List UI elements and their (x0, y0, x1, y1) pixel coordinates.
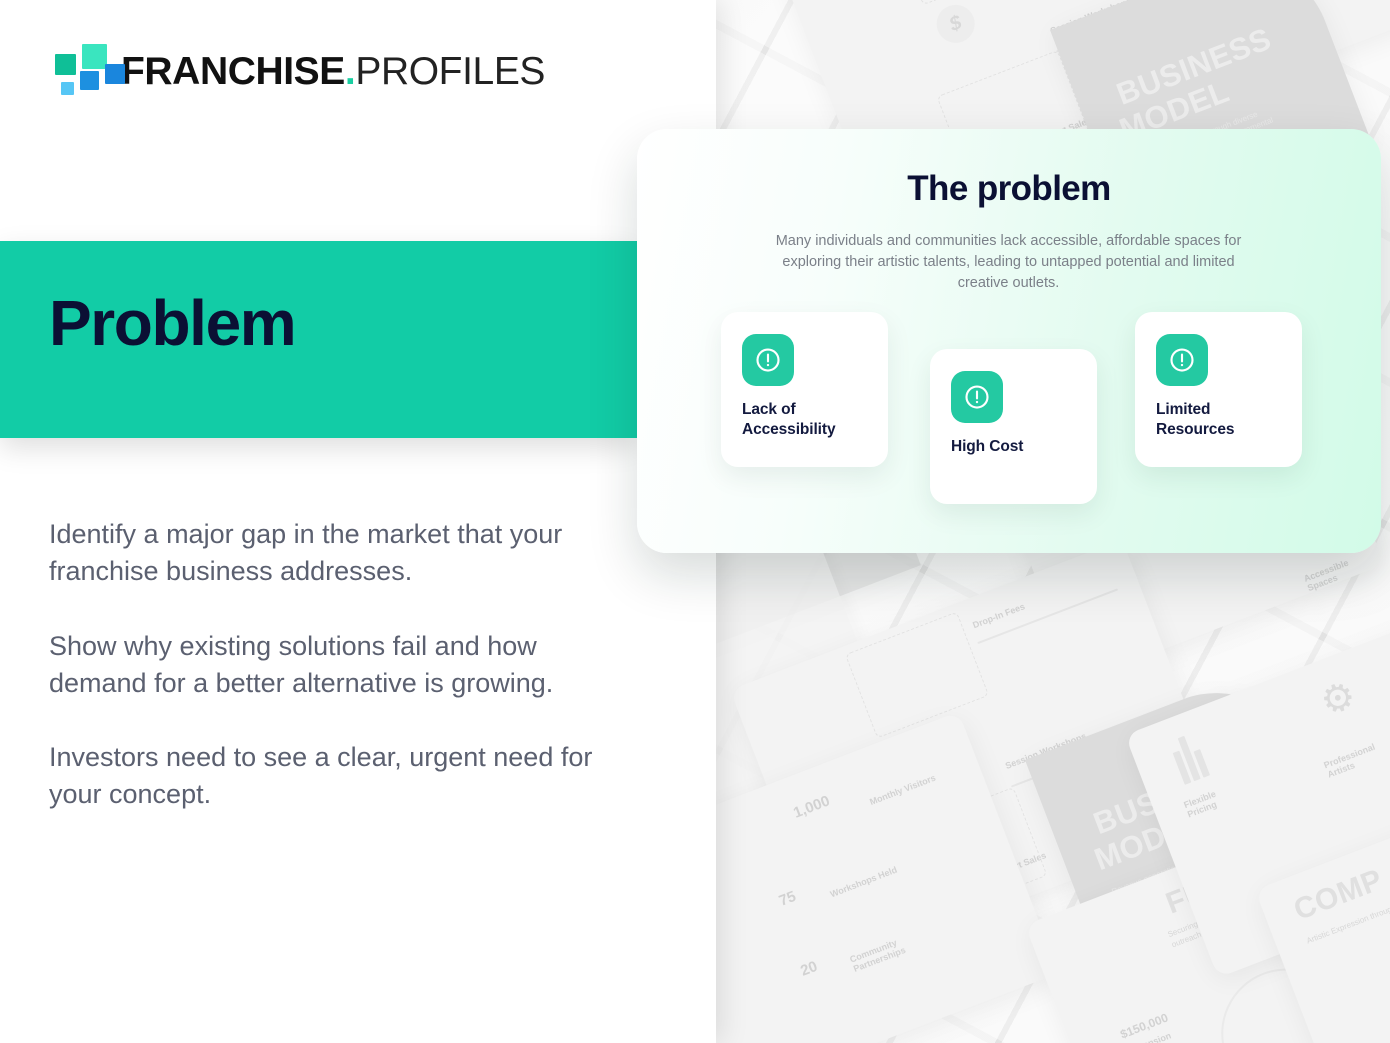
slide-canvas: $ Drop-In Fees Session Workshops Commiss… (0, 0, 1390, 1043)
slide-preview-card[interactable]: The problem Many individuals and communi… (637, 129, 1381, 553)
deck-stat-value: 1,000 (791, 792, 832, 821)
left-content-panel: FRANCHISE.PROFILES Identify a major gap … (0, 0, 716, 1043)
squares-logo-icon (47, 44, 103, 98)
problem-item-label: High Cost (951, 437, 1085, 457)
problem-item-label: Limited Resources (1156, 400, 1290, 441)
brand-name-thin: PROFILES (355, 52, 545, 91)
deck-feature-label: Professional Artists (1322, 736, 1390, 780)
brand-name-bold: FRANCHISE (121, 52, 345, 91)
bar-chart-icon (1167, 729, 1210, 785)
body-copy: Identify a major gap in the market that … (49, 516, 619, 814)
deck-stat-label: Monthly Visitors (868, 773, 937, 807)
brand-name-dot: . (345, 52, 355, 91)
body-paragraph-1: Identify a major gap in the market that … (49, 516, 619, 591)
problem-item-label: Lack of Accessibility (742, 400, 876, 441)
deck-stat-label: Workshops Held (829, 865, 899, 900)
deck-stat-label: Community Partnerships (848, 929, 924, 974)
preview-card-title: The problem (637, 169, 1381, 209)
problem-item-card[interactable]: High Cost (930, 349, 1097, 504)
body-paragraph-3: Investors need to see a clear, urgent ne… (49, 739, 619, 814)
deck-stat-value: 20 (798, 958, 820, 980)
preview-card-items: Lack of Accessibility High Cost (721, 312, 1311, 522)
alert-circle-icon (1156, 334, 1208, 386)
page-title: Problem (49, 291, 295, 355)
alert-circle-icon (951, 371, 1003, 423)
body-paragraph-2: Show why existing solutions fail and how… (49, 628, 619, 703)
alert-circle-icon (742, 334, 794, 386)
gear-icon: ⚙ (1314, 672, 1362, 726)
dashed-box (891, 0, 1035, 5)
revenue-coin-icon: $ (931, 0, 980, 48)
deck-feature-label: Flexible Pricing (1182, 779, 1245, 819)
brand-logo[interactable]: FRANCHISE.PROFILES (47, 44, 545, 98)
brand-wordmark: FRANCHISE.PROFILES (121, 52, 545, 91)
deck-stat-value: 75 (777, 888, 799, 910)
preview-card-subtitle: Many individuals and communities lack ac… (756, 231, 1261, 294)
problem-item-card[interactable]: Lack of Accessibility (721, 312, 888, 467)
problem-item-card[interactable]: Limited Resources (1135, 312, 1302, 467)
section-banner: Problem (0, 241, 637, 438)
